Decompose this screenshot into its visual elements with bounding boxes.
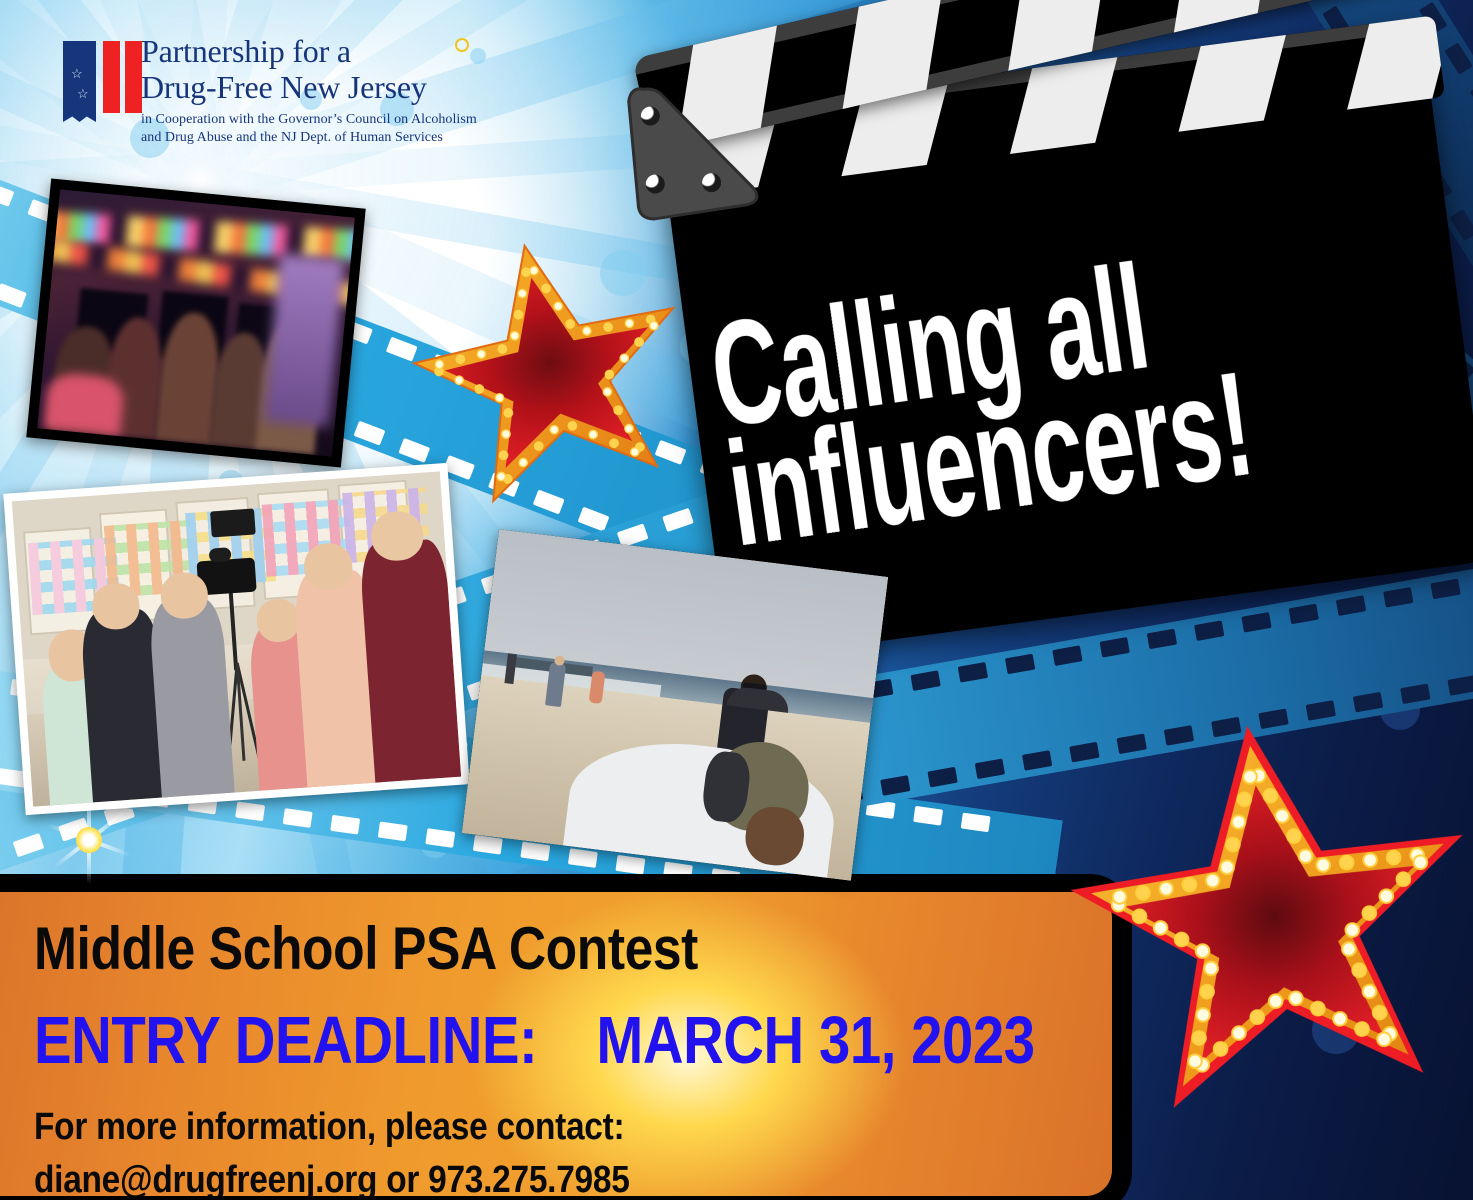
- entry-deadline-line: ENTRY DEADLINE: MARCH 31, 2023: [34, 1004, 908, 1078]
- logo-star-icon: ☆: [77, 87, 89, 100]
- entry-deadline-label: ENTRY DEADLINE:: [34, 1003, 537, 1078]
- logo-red-bar: [103, 41, 120, 113]
- logo-red-bar: [125, 41, 142, 113]
- clapperboard-hinge-plate: [619, 69, 768, 225]
- school-dance-photo: [26, 178, 365, 467]
- contact-line-2: diane@drugfreenj.org or 973.275.7985: [34, 1157, 949, 1196]
- logo-text: Partnership for a Drug-Free New Jersey i…: [141, 34, 477, 148]
- marquee-star-right: [1048, 690, 1473, 1142]
- logo-star-icon: ☆: [71, 67, 83, 80]
- psa-contest-flyer: Calling all influencers!: [0, 0, 1473, 1200]
- logo-tagline-line-1: in Cooperation with the Governor’s Counc…: [141, 111, 477, 129]
- sparkle-icon: [44, 800, 134, 880]
- contact-line-1: For more information, please contact:: [34, 1104, 949, 1151]
- film-crew-classroom-photo: [3, 463, 469, 815]
- logo-line-2: Drug-Free New Jersey: [141, 70, 477, 106]
- contest-title: Middle School PSA Contest: [34, 916, 928, 982]
- contest-info-panel: Middle School PSA Contest ENTRY DEADLINE…: [0, 874, 1132, 1200]
- entry-deadline-date: MARCH 31, 2023: [596, 1003, 1034, 1078]
- logo-tagline-line-2: and Drug Abuse and the NJ Dept. of Human…: [141, 129, 477, 147]
- beach-shoot-photo: [462, 529, 888, 880]
- logo-flag-banner: ☆ ☆: [63, 41, 96, 113]
- logo-line-1: Partnership for a: [141, 34, 477, 70]
